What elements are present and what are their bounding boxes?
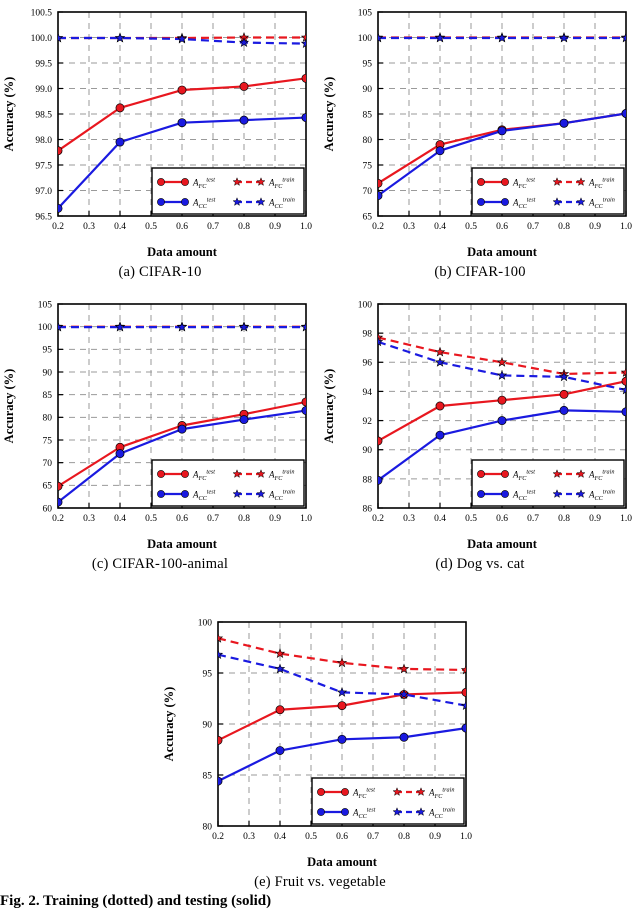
x-tick-label: 0.7 [367, 832, 379, 842]
data-point-star [436, 347, 445, 355]
x-tick-label: 0.4 [434, 222, 446, 232]
y-axis-label: Accuracy (%) [2, 369, 16, 444]
x-tick-label: 0.2 [372, 222, 384, 232]
x-tick-label: 0.6 [496, 222, 508, 232]
y-tick-label: 60 [43, 504, 53, 514]
panel-caption-a: (a) CIFAR-10 [0, 264, 320, 281]
legend-marker-circle [157, 198, 164, 205]
x-tick-label: 0.6 [176, 514, 188, 524]
y-tick-label: 86 [363, 504, 373, 514]
data-point-circle [302, 113, 310, 121]
y-tick-label: 90 [363, 446, 373, 456]
data-point-circle [374, 179, 382, 187]
x-tick-label: 0.8 [398, 832, 410, 842]
x-tick-label: 0.7 [527, 514, 539, 524]
legend-marker-circle [501, 470, 508, 477]
panel-caption-e: (e) Fruit vs. vegetable [160, 874, 480, 891]
x-tick-label: 1.0 [300, 514, 312, 524]
data-point-circle [214, 777, 222, 785]
data-point-circle [54, 482, 62, 490]
plot-e: 0.20.30.40.50.60.70.80.91.080859095100Da… [160, 610, 480, 872]
x-tick-label: 0.9 [589, 514, 601, 524]
chart-svg-e: 0.20.30.40.50.60.70.80.91.080859095100Da… [160, 610, 480, 872]
data-point-circle [338, 702, 346, 710]
data-point-circle [498, 396, 506, 404]
y-tick-label: 80 [363, 136, 373, 146]
data-point-circle [116, 138, 124, 146]
y-tick-label: 99.0 [35, 85, 52, 95]
subplot-panel-b: 0.20.30.40.50.60.70.80.91.06570758085909… [320, 0, 640, 281]
x-tick-label: 1.0 [620, 514, 632, 524]
data-point-circle [54, 498, 62, 506]
x-tick-label: 0.4 [274, 832, 286, 842]
y-tick-label: 100 [38, 323, 53, 333]
legend-c: AFCtestAFCtrainACCtestACCtrain [152, 460, 304, 506]
y-tick-label: 98 [363, 330, 373, 340]
y-tick-label: 105 [38, 300, 53, 310]
legend-marker-circle [477, 470, 484, 477]
x-tick-label: 0.5 [145, 222, 157, 232]
data-point-circle [116, 104, 124, 112]
x-tick-label: 0.4 [114, 514, 126, 524]
legend-marker-circle [181, 178, 188, 185]
legend-marker-circle [501, 178, 508, 185]
data-point-star [178, 34, 187, 42]
y-tick-label: 100 [198, 618, 213, 628]
y-tick-label: 88 [363, 475, 373, 485]
data-point-circle [214, 736, 222, 744]
x-tick-label: 0.6 [176, 222, 188, 232]
panel-caption-b: (b) CIFAR-100 [320, 264, 640, 281]
panel-caption-d: (d) Dog vs. cat [320, 556, 640, 573]
legend-marker-circle [341, 788, 348, 795]
data-point-circle [462, 724, 470, 732]
subplot-panel-a: 0.20.30.40.50.60.70.80.91.096.597.097.59… [0, 0, 320, 281]
data-point-circle [178, 86, 186, 94]
y-tick-label: 100 [358, 34, 373, 44]
chart-svg-d: 0.20.30.40.50.60.70.80.91.08688909294969… [320, 292, 640, 554]
x-tick-label: 0.2 [52, 514, 64, 524]
y-tick-label: 97.5 [35, 161, 52, 171]
data-point-circle [178, 425, 186, 433]
y-tick-label: 95 [203, 669, 213, 679]
figure-container: 0.20.30.40.50.60.70.80.91.096.597.097.59… [0, 0, 640, 912]
legend-marker-circle [157, 470, 164, 477]
x-axis-label: Data amount [467, 245, 538, 259]
panel-caption-c: (c) CIFAR-100-animal [0, 556, 320, 573]
x-tick-label: 0.3 [403, 222, 415, 232]
y-axis-label: Accuracy (%) [2, 77, 16, 152]
x-tick-label: 0.5 [145, 514, 157, 524]
x-tick-label: 0.2 [372, 514, 384, 524]
y-axis-label: Accuracy (%) [162, 687, 176, 762]
data-point-circle [338, 735, 346, 743]
data-point-circle [276, 706, 284, 714]
legend-marker-circle [501, 198, 508, 205]
y-tick-label: 105 [358, 8, 373, 18]
legend-marker-circle [317, 788, 324, 795]
y-tick-label: 85 [203, 771, 213, 781]
data-point-circle [436, 402, 444, 410]
y-tick-label: 98.0 [35, 136, 52, 146]
data-point-circle [462, 688, 470, 696]
x-tick-label: 0.8 [558, 514, 570, 524]
data-point-circle [622, 377, 630, 385]
y-tick-label: 95 [43, 346, 53, 356]
y-tick-label: 98.5 [35, 110, 52, 120]
y-tick-label: 85 [363, 110, 373, 120]
x-tick-label: 0.5 [305, 832, 317, 842]
y-tick-label: 92 [363, 417, 373, 427]
data-point-circle [302, 398, 310, 406]
legend-marker-circle [341, 808, 348, 815]
legend-marker-circle [477, 178, 484, 185]
x-axis-label: Data amount [467, 537, 538, 551]
data-point-star [436, 33, 445, 41]
x-tick-label: 1.0 [620, 222, 632, 232]
y-axis-label: Accuracy (%) [322, 77, 336, 152]
x-tick-label: 0.9 [269, 514, 281, 524]
data-point-circle [622, 109, 630, 117]
data-point-circle [240, 82, 248, 90]
legend-b: AFCtestAFCtrainACCtestACCtrain [472, 168, 624, 214]
y-tick-label: 99.5 [35, 59, 52, 69]
data-point-star [338, 658, 347, 666]
x-tick-label: 1.0 [300, 222, 312, 232]
legend-marker-circle [181, 470, 188, 477]
chart-svg-a: 0.20.30.40.50.60.70.80.91.096.597.097.59… [0, 0, 320, 262]
legend-a: AFCtestAFCtrainACCtestACCtrain [152, 168, 304, 214]
y-tick-label: 65 [43, 482, 53, 492]
data-point-circle [302, 74, 310, 82]
data-point-circle [54, 147, 62, 155]
y-tick-label: 65 [363, 212, 373, 222]
legend-marker-circle [181, 490, 188, 497]
x-tick-label: 1.0 [460, 832, 472, 842]
data-point-circle [560, 390, 568, 398]
plot-d: 0.20.30.40.50.60.70.80.91.08688909294969… [320, 292, 640, 554]
figure-caption: Fig. 2. Training (dotted) and testing (s… [0, 893, 640, 910]
y-tick-label: 96 [363, 359, 373, 369]
data-point-circle [436, 431, 444, 439]
y-tick-label: 80 [43, 414, 53, 424]
x-tick-label: 0.3 [243, 832, 255, 842]
x-tick-label: 0.8 [238, 222, 250, 232]
data-point-star [338, 688, 347, 696]
legend-marker-circle [157, 178, 164, 185]
x-tick-label: 0.3 [83, 514, 95, 524]
x-tick-label: 0.5 [465, 514, 477, 524]
data-point-circle [498, 127, 506, 135]
data-point-star [560, 33, 569, 41]
x-tick-label: 0.4 [114, 222, 126, 232]
x-axis-label: Data amount [307, 855, 378, 869]
y-tick-label: 70 [43, 459, 53, 469]
x-tick-label: 0.2 [212, 832, 224, 842]
chart-svg-b: 0.20.30.40.50.60.70.80.91.06570758085909… [320, 0, 640, 262]
x-tick-label: 0.5 [465, 222, 477, 232]
x-tick-label: 0.3 [83, 222, 95, 232]
x-tick-label: 0.9 [429, 832, 441, 842]
plot-b: 0.20.30.40.50.60.70.80.91.06570758085909… [320, 0, 640, 262]
subplot-panel-d: 0.20.30.40.50.60.70.80.91.08688909294969… [320, 292, 640, 573]
y-axis-label: Accuracy (%) [322, 369, 336, 444]
x-tick-label: 0.8 [558, 222, 570, 232]
subplot-panel-e: 0.20.30.40.50.60.70.80.91.080859095100Da… [160, 610, 480, 891]
data-point-circle [374, 476, 382, 484]
x-tick-label: 0.3 [403, 514, 415, 524]
y-tick-label: 90 [363, 85, 373, 95]
y-tick-label: 97.0 [35, 187, 52, 197]
y-tick-label: 100.5 [31, 8, 53, 18]
x-tick-label: 0.9 [589, 222, 601, 232]
plot-c: 0.20.30.40.50.60.70.80.91.06065707580859… [0, 292, 320, 554]
data-point-circle [560, 406, 568, 414]
x-axis-label: Data amount [147, 537, 218, 551]
data-point-circle [302, 406, 310, 414]
x-tick-label: 0.8 [238, 514, 250, 524]
data-point-circle [436, 147, 444, 155]
x-tick-label: 0.7 [527, 222, 539, 232]
y-tick-label: 96.5 [35, 212, 52, 222]
y-tick-label: 70 [363, 187, 373, 197]
x-tick-label: 0.7 [207, 222, 219, 232]
y-tick-label: 90 [43, 368, 53, 378]
y-tick-label: 90 [203, 720, 213, 730]
y-tick-label: 100 [358, 300, 373, 310]
data-point-star [498, 33, 507, 41]
legend-marker-circle [317, 808, 324, 815]
data-point-star [116, 33, 125, 41]
legend-marker-circle [501, 490, 508, 497]
subplot-panel-c: 0.20.30.40.50.60.70.80.91.06065707580859… [0, 292, 320, 573]
legend-marker-circle [181, 198, 188, 205]
data-point-circle [560, 119, 568, 127]
data-point-circle [400, 733, 408, 741]
data-point-star [498, 371, 507, 379]
data-point-circle [54, 204, 62, 212]
x-tick-label: 0.6 [336, 832, 348, 842]
data-point-circle [622, 408, 630, 416]
y-tick-label: 95 [363, 59, 373, 69]
legend-d: AFCtestAFCtrainACCtestACCtrain [472, 460, 624, 506]
data-point-circle [178, 119, 186, 127]
y-tick-label: 85 [43, 391, 53, 401]
legend-e: AFCtestAFCtrainACCtestACCtrain [312, 778, 464, 824]
data-point-circle [116, 450, 124, 458]
data-point-circle [240, 416, 248, 424]
y-tick-label: 80 [203, 822, 213, 832]
legend-marker-circle [477, 198, 484, 205]
x-tick-label: 0.6 [496, 514, 508, 524]
series-path [218, 638, 466, 670]
legend-marker-circle [477, 490, 484, 497]
legend-marker-circle [157, 490, 164, 497]
x-tick-label: 0.2 [52, 222, 64, 232]
data-point-circle [276, 746, 284, 754]
data-point-circle [374, 192, 382, 200]
x-tick-label: 0.9 [269, 222, 281, 232]
y-tick-label: 94 [363, 388, 373, 398]
plot-a: 0.20.30.40.50.60.70.80.91.096.597.097.59… [0, 0, 320, 262]
x-tick-label: 0.4 [434, 514, 446, 524]
y-tick-label: 75 [43, 436, 53, 446]
data-point-circle [498, 416, 506, 424]
data-point-circle [240, 116, 248, 124]
x-axis-label: Data amount [147, 245, 218, 259]
chart-svg-c: 0.20.30.40.50.60.70.80.91.06065707580859… [0, 292, 320, 554]
data-point-circle [374, 437, 382, 445]
y-tick-label: 75 [363, 161, 373, 171]
x-tick-label: 0.7 [207, 514, 219, 524]
y-tick-label: 100.0 [31, 34, 53, 44]
